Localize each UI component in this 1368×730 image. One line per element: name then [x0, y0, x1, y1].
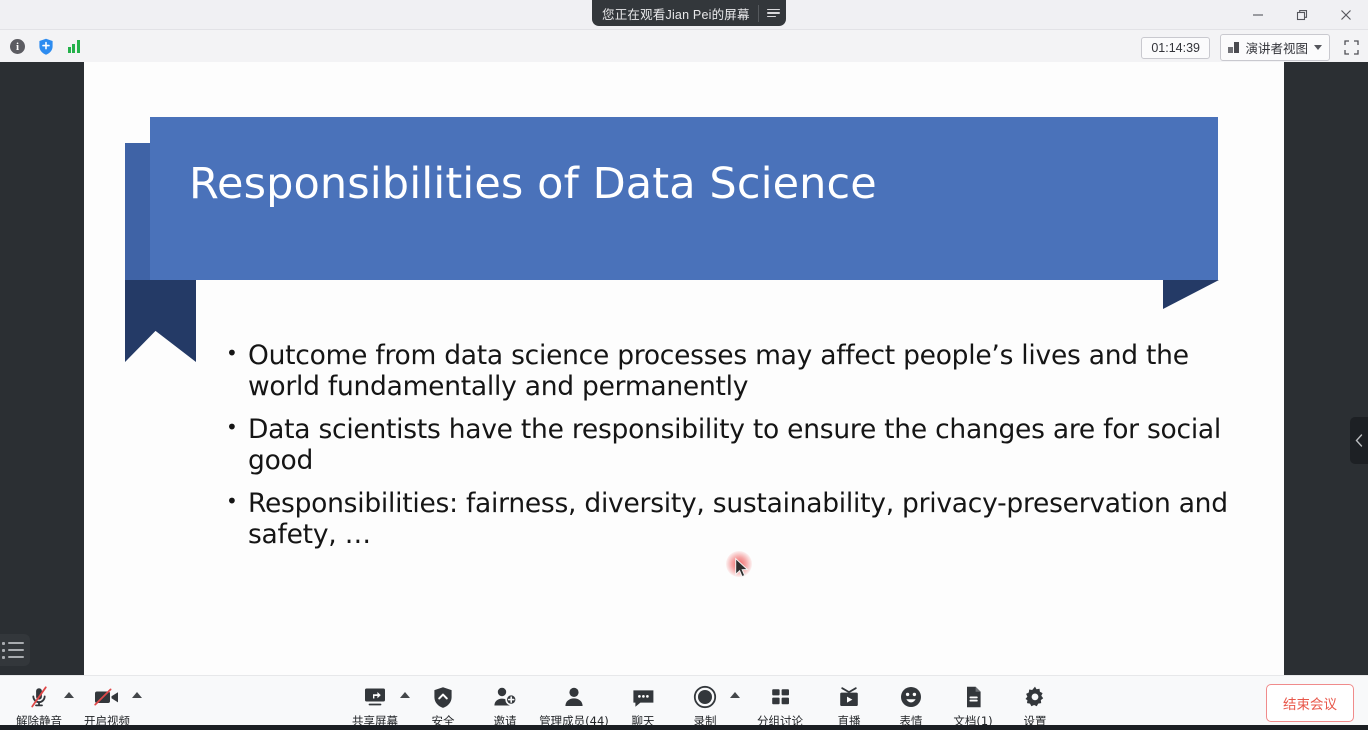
audio-options-caret[interactable]: [64, 692, 74, 698]
close-icon[interactable]: [1324, 0, 1368, 30]
ribbon-left-wedge: [125, 143, 151, 280]
share-options-caret[interactable]: [400, 692, 410, 698]
toolbar-item-live[interactable]: 直播: [818, 678, 880, 729]
bullet-item: • Data scientists have the responsibilit…: [226, 414, 1236, 476]
toolbar-item-audio[interactable]: 解除静音: [8, 678, 70, 729]
meeting-timer: 01:14:39: [1141, 37, 1210, 59]
toolbar-label-chat: 聊天: [632, 713, 655, 729]
bullet-text: Outcome from data science processes may …: [248, 340, 1236, 402]
slide-bullet-list: • Outcome from data science processes ma…: [226, 340, 1236, 562]
video-options-caret[interactable]: [132, 692, 142, 698]
toolbar-item-chat[interactable]: 聊天: [612, 678, 674, 729]
record-circle-icon: [693, 684, 717, 711]
chevron-down-icon[interactable]: [1314, 45, 1322, 50]
window-controls: [1236, 0, 1368, 30]
bullet-text: Responsibilities: fairness, diversity, s…: [248, 488, 1236, 550]
breakout-rooms-icon: [768, 684, 793, 711]
slide-title: Responsibilities of Data Science: [189, 161, 1189, 208]
toolbar-label-live: 直播: [838, 713, 861, 729]
toolbar-item-security[interactable]: 安全: [412, 678, 474, 729]
title-bar: 您正在观看Jian Pei的屏幕: [0, 0, 1368, 30]
zoom-meeting-window: 您正在观看Jian Pei的屏幕 i: [0, 0, 1368, 730]
document-icon: [963, 684, 984, 711]
restore-icon[interactable]: [1280, 0, 1324, 30]
video-off-icon: [93, 684, 121, 711]
toolbar-item-documents[interactable]: 文档(1): [942, 678, 1004, 729]
toolbar-label-record: 录制: [694, 713, 717, 729]
signal-bars-icon[interactable]: [62, 35, 85, 58]
speaker-view-icon: [1228, 42, 1240, 53]
smiley-icon: [899, 684, 923, 711]
toolbar-item-video[interactable]: 开启视频: [76, 678, 138, 729]
toolbar-label-invite: 邀请: [494, 713, 517, 729]
toolbar-center-group: 共享屏幕 安全: [144, 678, 1266, 729]
toolbar-label-breakout: 分组讨论: [757, 713, 803, 729]
gear-icon: [1023, 684, 1047, 711]
toolbar-item-settings[interactable]: 设置: [1004, 678, 1066, 729]
bullet-marker: •: [226, 414, 248, 440]
presentation-slide: Responsibilities of Data Science • Outco…: [84, 62, 1284, 675]
toolbar-label-share: 共享屏幕: [352, 713, 398, 729]
toolbar-label-participants: 管理成员(44): [539, 713, 609, 729]
watching-screen-banner[interactable]: 您正在观看Jian Pei的屏幕: [592, 0, 786, 26]
list-lines: [0, 642, 24, 659]
chevron-left-icon[interactable]: [1350, 417, 1368, 464]
ribbon-left-tail: [125, 280, 196, 362]
live-broadcast-icon: [837, 684, 861, 711]
bullet-text: Data scientists have the responsibility …: [248, 414, 1236, 476]
list-panel-icon[interactable]: [0, 634, 30, 666]
bullet-item: • Outcome from data science processes ma…: [226, 340, 1236, 402]
toolbar-label-settings: 设置: [1024, 713, 1047, 729]
toolbar-label-security: 安全: [432, 713, 455, 729]
shield-plus-icon[interactable]: [34, 35, 57, 58]
person-icon: [562, 684, 586, 711]
bullet-marker: •: [226, 488, 248, 514]
bullet-marker: •: [226, 340, 248, 366]
toolbar-label-video: 开启视频: [84, 713, 130, 729]
meeting-toolbar: 解除静音 开启视频: [0, 675, 1368, 730]
banner-divider: [758, 5, 759, 22]
toolbar-item-participants[interactable]: 管理成员(44): [536, 678, 612, 729]
toolbar-item-breakout[interactable]: 分组讨论: [742, 678, 818, 729]
view-mode-selector[interactable]: 演讲者视图: [1220, 34, 1330, 61]
toolbar-label-reactions: 表情: [900, 713, 923, 729]
fullscreen-icon[interactable]: [1340, 38, 1362, 58]
status-icon-group: i: [6, 35, 85, 58]
toolbar-left-group: 解除静音 开启视频: [0, 678, 144, 729]
list-menu-icon[interactable]: [767, 9, 780, 18]
view-mode-label: 演讲者视图: [1245, 38, 1308, 57]
shield-up-icon: [432, 684, 454, 711]
toolbar-item-invite[interactable]: 邀请: [474, 678, 536, 729]
end-meeting-button[interactable]: 结束会议: [1266, 684, 1354, 722]
record-options-caret[interactable]: [730, 692, 740, 698]
mic-muted-icon: [28, 684, 50, 711]
shared-screen-stage: Responsibilities of Data Science • Outco…: [0, 62, 1368, 675]
meeting-sub-header: i 01:14:39 演讲者视图: [0, 30, 1368, 62]
chat-bubble-icon: [631, 684, 656, 711]
minimize-icon[interactable]: [1236, 0, 1280, 30]
bullet-item: • Responsibilities: fairness, diversity,…: [226, 488, 1236, 550]
toolbar-item-reactions[interactable]: 表情: [880, 678, 942, 729]
toolbar-item-share[interactable]: 共享屏幕: [344, 678, 406, 729]
screen-share-icon: [362, 684, 388, 711]
toolbar-label-documents: 文档(1): [953, 713, 992, 729]
watching-screen-label: 您正在观看Jian Pei的屏幕: [602, 4, 750, 23]
person-add-icon: [492, 684, 518, 711]
meeting-right-controls: 01:14:39 演讲者视图: [1141, 34, 1362, 61]
toolbar-label-audio: 解除静音: [16, 713, 62, 729]
slide-title-ribbon: Responsibilities of Data Science: [125, 117, 1259, 342]
info-icon[interactable]: i: [6, 35, 29, 58]
ribbon-right-tail: [1163, 280, 1219, 309]
toolbar-right-group: 结束会议: [1266, 684, 1368, 722]
toolbar-item-record[interactable]: 录制: [674, 678, 736, 729]
